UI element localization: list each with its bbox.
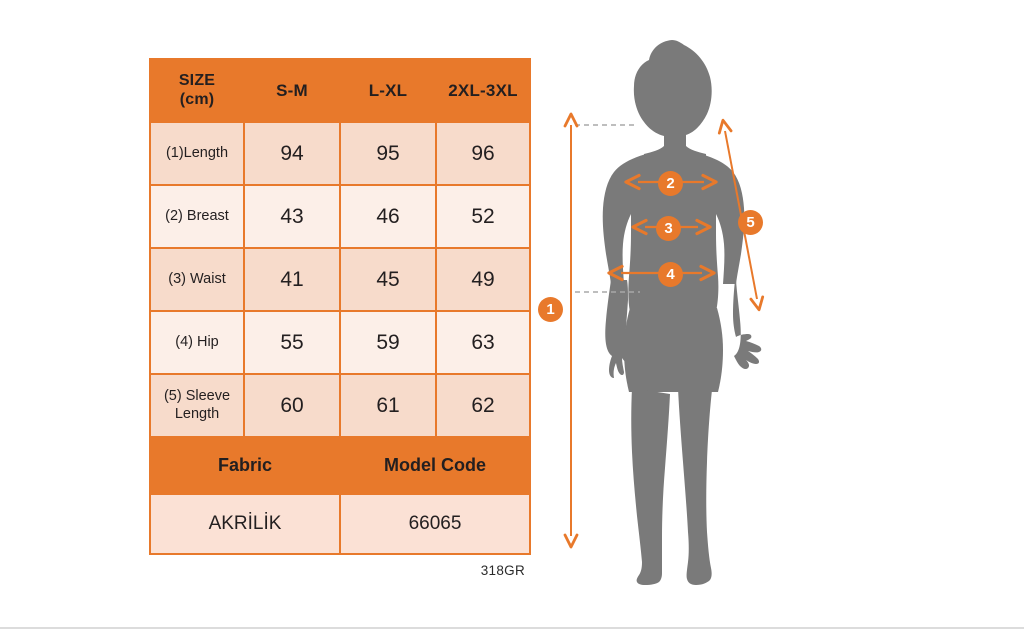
footer-value-model-code: 66065 bbox=[340, 494, 530, 554]
table-row: (1)Length 94 95 96 bbox=[150, 122, 530, 185]
measure-badge-1: 1 bbox=[538, 297, 563, 322]
table-row: (2) Breast 43 46 52 bbox=[150, 185, 530, 248]
cell-length-s-m: 94 bbox=[244, 122, 340, 185]
footer-header-row: Fabric Model Code bbox=[150, 437, 530, 494]
cell-sleeve-2xl-3xl: 62 bbox=[436, 374, 530, 437]
row-label-length: (1)Length bbox=[150, 122, 244, 185]
row-label-hip: (4) Hip bbox=[150, 311, 244, 374]
header-cell-l-xl: L-XL bbox=[340, 59, 436, 122]
row-label-breast: (2) Breast bbox=[150, 185, 244, 248]
size-table-container: SIZE (cm) S-M L-XL 2XL-3XL (1)Length 94 … bbox=[149, 58, 525, 555]
row-label-waist: (3) Waist bbox=[150, 248, 244, 311]
table-row: (4) Hip 55 59 63 bbox=[150, 311, 530, 374]
table-header-row: SIZE (cm) S-M L-XL 2XL-3XL bbox=[150, 59, 530, 122]
cell-length-l-xl: 95 bbox=[340, 122, 436, 185]
header-cell-s-m: S-M bbox=[244, 59, 340, 122]
header-size-line1: SIZE bbox=[151, 72, 243, 90]
footer-value-fabric: AKRİLİK bbox=[150, 494, 340, 554]
cell-breast-l-xl: 46 bbox=[340, 185, 436, 248]
cell-length-2xl-3xl: 96 bbox=[436, 122, 530, 185]
cell-sleeve-l-xl: 61 bbox=[340, 374, 436, 437]
measurement-figure: 1 2 3 4 5 bbox=[520, 18, 840, 598]
header-size-line2: (cm) bbox=[151, 91, 243, 109]
cell-hip-2xl-3xl: 63 bbox=[436, 311, 530, 374]
cell-waist-2xl-3xl: 49 bbox=[436, 248, 530, 311]
cell-hip-s-m: 55 bbox=[244, 311, 340, 374]
cell-sleeve-s-m: 60 bbox=[244, 374, 340, 437]
cell-hip-l-xl: 59 bbox=[340, 311, 436, 374]
footer-header-fabric: Fabric bbox=[150, 437, 340, 494]
garment-weight-note: 318GR bbox=[149, 563, 525, 578]
measure-badge-5: 5 bbox=[738, 210, 763, 235]
table-row: (5) Sleeve Length 60 61 62 bbox=[150, 374, 530, 437]
measure-badge-2: 2 bbox=[658, 171, 683, 196]
cell-waist-l-xl: 45 bbox=[340, 248, 436, 311]
row-label-sleeve-length: (5) Sleeve Length bbox=[150, 374, 244, 437]
cell-waist-s-m: 41 bbox=[244, 248, 340, 311]
measure-badge-4: 4 bbox=[658, 262, 683, 287]
header-cell-size: SIZE (cm) bbox=[150, 59, 244, 122]
cell-breast-2xl-3xl: 52 bbox=[436, 185, 530, 248]
cell-breast-s-m: 43 bbox=[244, 185, 340, 248]
size-chart-page: SIZE (cm) S-M L-XL 2XL-3XL (1)Length 94 … bbox=[0, 0, 1024, 629]
size-table: SIZE (cm) S-M L-XL 2XL-3XL (1)Length 94 … bbox=[149, 58, 531, 555]
measure-badge-3: 3 bbox=[656, 216, 681, 241]
female-silhouette-diagram bbox=[520, 18, 840, 598]
footer-header-model-code: Model Code bbox=[340, 437, 530, 494]
female-silhouette-icon bbox=[603, 40, 762, 585]
table-row: (3) Waist 41 45 49 bbox=[150, 248, 530, 311]
footer-value-row: AKRİLİK 66065 bbox=[150, 494, 530, 554]
header-cell-2xl-3xl: 2XL-3XL bbox=[436, 59, 530, 122]
